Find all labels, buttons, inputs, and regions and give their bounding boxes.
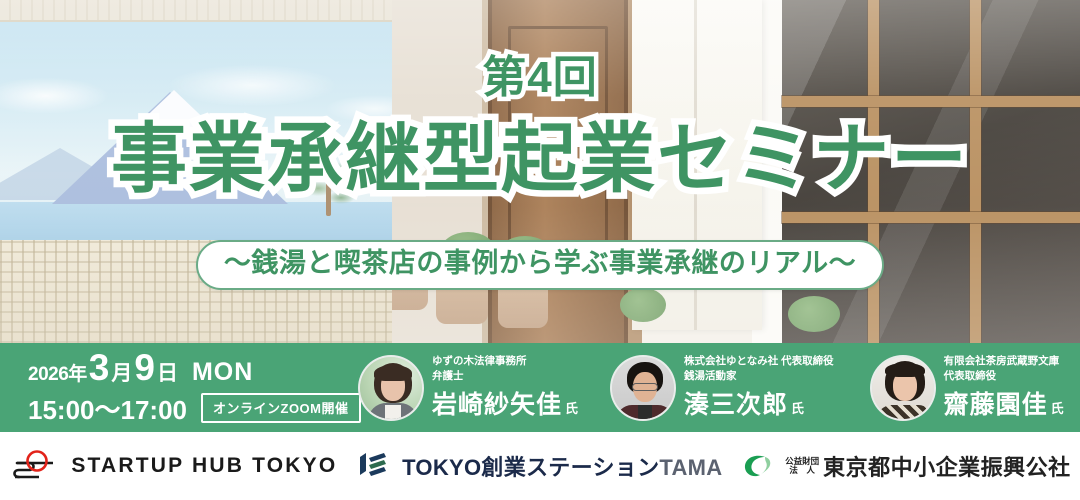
avatar (870, 355, 936, 421)
speaker-card: 株式会社ゆとなみ社 代表取締役 銭湯活動家 湊三次郎 氏 (610, 354, 834, 420)
speaker-name-suffix: 氏 (565, 398, 578, 417)
speaker-org: 株式会社ゆとなみ社 代表取締役 (684, 354, 834, 368)
event-year: 2026年 (28, 359, 87, 386)
speaker-name: 齋藤園佳 (944, 385, 1048, 421)
event-info-bar: 2026年 3 月 9 日 MON 15:00〜17:00 オンラインZOOM開… (0, 343, 1080, 432)
seminar-banner: 第4回 事業承継型起業セミナー 〜銭湯と喫茶店の事例から学ぶ事業承継のリアル〜 … (0, 0, 1080, 500)
speaker-name: 岩崎紗矢佳 (432, 385, 562, 421)
speaker-list: ゆずの木法律事務所 弁護士 岩崎紗矢佳 氏 (360, 354, 1080, 420)
event-datetime: 2026年 3 月 9 日 MON 15:00〜17:00 オンラインZOOM開… (0, 349, 360, 427)
speaker-info: 株式会社ゆとなみ社 代表取締役 銭湯活動家 湊三次郎 氏 (684, 354, 834, 420)
avatar-collar (385, 405, 401, 421)
event-month-unit: 月 (111, 357, 132, 387)
speaker-org: ゆずの木法律事務所 (432, 354, 578, 368)
logo-startup-hub-tokyo[interactable]: STARTUP HUB TOKYO (9, 449, 337, 483)
window-frame-bar (782, 212, 1080, 223)
event-time: 15:00〜17:00 (28, 390, 187, 427)
plant-foliage (788, 296, 840, 332)
tama-name-part3: TAMA (659, 455, 722, 480)
footer-logos: STARTUP HUB TOKYO TOKYO創業ステーションTAMA 公益財団… (0, 432, 1080, 500)
speaker-name-row: 湊三次郎 氏 (684, 385, 834, 421)
avatar (358, 355, 424, 421)
tokyo-sme-swoosh-mark (741, 451, 775, 481)
logo-tokyo-sme-support-center[interactable]: 公益財団法 人東京都中小企業振興公社 (741, 450, 1071, 482)
speaker-card: 有限会社茶房武蔵野文庫 代表取締役 齋藤園佳 氏 (870, 354, 1064, 420)
avatar-glasses (632, 383, 658, 391)
avatar-fringe (374, 365, 412, 381)
avatar-body (876, 405, 934, 421)
plant-foliage (620, 288, 666, 322)
tokyo-sme-support-center-name: 公益財団法 人東京都中小企業振興公社 (785, 450, 1071, 482)
event-month-number: 3 (89, 349, 110, 386)
speaker-role: 銭湯活動家 (684, 369, 834, 383)
speaker-org: 有限会社茶房武蔵野文庫 (944, 354, 1064, 368)
speaker-info: ゆずの木法律事務所 弁護士 岩崎紗矢佳 氏 (432, 354, 578, 420)
avatar-collar (638, 405, 652, 421)
tokyo-sogyo-station-mark (356, 449, 392, 483)
bathhouse-ceiling (0, 0, 392, 22)
foundation-prefix-line2: 法 人 (789, 465, 815, 475)
tama-name-part2: 創業ステーション (481, 455, 659, 480)
startup-hub-tokyo-name: STARTUP HUB TOKYO (71, 454, 337, 478)
tokyo-sogyo-station-name: TOKYO創業ステーションTAMA (402, 450, 722, 482)
edition-badge: 第4回 (0, 56, 1080, 100)
sme-center-name: 東京都中小企業振興公社 (823, 455, 1071, 480)
event-time-row: 15:00〜17:00 オンラインZOOM開催 (28, 390, 360, 427)
event-date-row: 2026年 3 月 9 日 MON (28, 349, 360, 387)
online-format-badge: オンラインZOOM開催 (201, 393, 361, 423)
speaker-name: 湊三次郎 (684, 385, 788, 421)
speaker-name-suffix: 氏 (791, 398, 804, 417)
tama-name-part1: TOKYO (402, 455, 481, 480)
event-day-of-week: MON (192, 358, 253, 387)
event-day-unit: 日 (157, 357, 178, 387)
speaker-role: 代表取締役 (944, 369, 1064, 383)
event-day-number: 9 (134, 349, 155, 386)
speaker-role: 弁護士 (432, 369, 578, 383)
speaker-info: 有限会社茶房武蔵野文庫 代表取締役 齋藤園佳 氏 (944, 354, 1064, 420)
subtitle-container: 〜銭湯と喫茶店の事例から学ぶ事業承継のリアル〜 (0, 240, 1080, 290)
logo-tokyo-sogyo-station-tama[interactable]: TOKYO創業ステーションTAMA (356, 449, 722, 483)
avatar-fringe (885, 363, 925, 377)
speaker-name-suffix: 氏 (1051, 398, 1064, 417)
speaker-name-row: 岩崎紗矢佳 氏 (432, 385, 578, 421)
foundation-prefix: 公益財団法 人 (785, 457, 819, 475)
startup-hub-tokyo-mark (9, 449, 61, 483)
page-title: 事業承継型起業セミナー (0, 120, 1080, 199)
speaker-name-row: 齋藤園佳 氏 (944, 385, 1064, 421)
avatar (610, 355, 676, 421)
subtitle: 〜銭湯と喫茶店の事例から学ぶ事業承継のリアル〜 (196, 240, 884, 290)
speaker-card: ゆずの木法律事務所 弁護士 岩崎紗矢佳 氏 (358, 354, 578, 420)
